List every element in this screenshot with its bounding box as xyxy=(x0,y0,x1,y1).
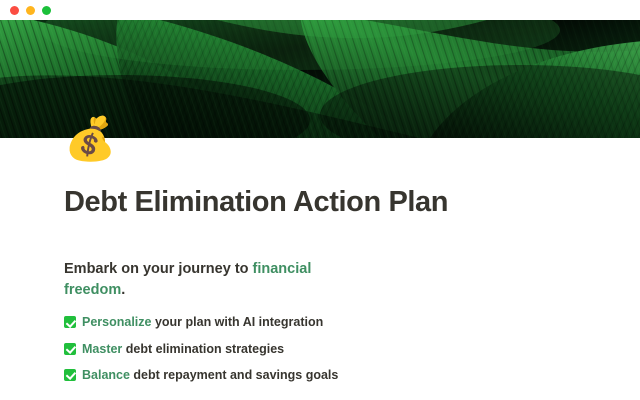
list-item-lead: Master xyxy=(82,342,122,356)
subtitle-lead: Embark on your journey to xyxy=(64,261,253,277)
checklist: Personalize your plan with AI integratio… xyxy=(64,313,576,385)
page-subtitle[interactable]: Embark on your journey to financial free… xyxy=(64,259,332,301)
minimize-window-button[interactable] xyxy=(26,6,35,15)
list-item[interactable]: Master debt elimination strategies xyxy=(64,340,576,359)
list-item-rest: debt repayment and savings goals xyxy=(130,368,338,382)
list-item-rest: your plan with AI integration xyxy=(151,315,323,329)
list-item[interactable]: Balance debt repayment and savings goals xyxy=(64,366,576,385)
app-window: 💰 Debt Elimination Action Plan Embark on… xyxy=(0,0,640,400)
check-mark-icon xyxy=(64,369,76,381)
page-content: Debt Elimination Action Plan Embark on y… xyxy=(0,138,640,393)
page-title[interactable]: Debt Elimination Action Plan xyxy=(64,186,576,219)
subtitle-trail: . xyxy=(121,282,125,298)
list-item-rest: debt elimination strategies xyxy=(122,342,284,356)
maximize-window-button[interactable] xyxy=(42,6,51,15)
list-item-lead: Personalize xyxy=(82,315,151,329)
check-mark-icon xyxy=(64,316,76,328)
money-bag-emoji[interactable]: 💰 xyxy=(64,116,110,162)
check-mark-icon xyxy=(64,343,76,355)
close-window-button[interactable] xyxy=(10,6,19,15)
window-titlebar xyxy=(0,0,640,20)
list-item[interactable]: Personalize your plan with AI integratio… xyxy=(64,313,576,332)
list-item-lead: Balance xyxy=(82,368,130,382)
